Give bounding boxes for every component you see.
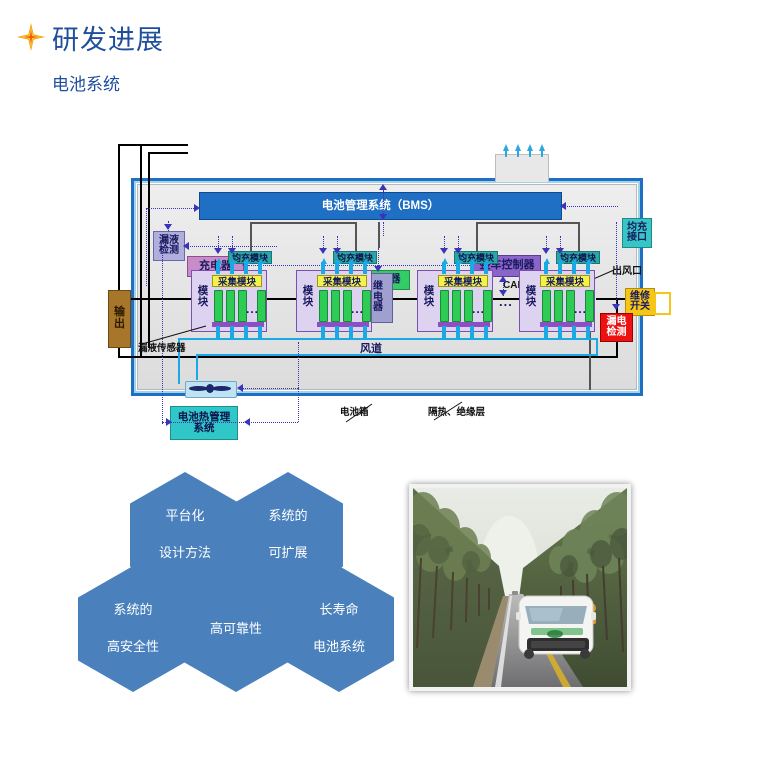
signal-line-thermal bbox=[162, 422, 298, 423]
hv-wire bbox=[118, 356, 618, 358]
coolant-arrow bbox=[484, 258, 490, 264]
signal-arrow bbox=[542, 248, 550, 254]
hex-line2: 高安全性 bbox=[107, 638, 159, 657]
signal-arrow bbox=[454, 248, 462, 254]
hv-wire bbox=[118, 144, 142, 146]
thermal-line2: 系统 bbox=[194, 422, 215, 434]
air-duct-rail bbox=[596, 338, 598, 354]
hv-wire bbox=[148, 152, 188, 154]
battery-cell bbox=[483, 290, 492, 322]
battery-cell bbox=[452, 290, 461, 322]
acquisition-module[interactable]: 采集模块 bbox=[212, 275, 262, 287]
air-duct-rail bbox=[178, 338, 598, 340]
air-outlet-stem bbox=[541, 150, 543, 157]
hv-wire bbox=[118, 144, 120, 292]
hex-line2: 设计方法 bbox=[159, 544, 211, 563]
signal-arrow bbox=[194, 204, 200, 212]
leak-sensor-label: 漏液传感器 bbox=[138, 340, 186, 354]
module-label: 模 块 bbox=[524, 286, 538, 307]
signal-line-display-bms bbox=[383, 222, 384, 236]
signal-arrow bbox=[333, 248, 341, 254]
coolant-arrow bbox=[363, 258, 369, 264]
balance-port-line1: 均充 bbox=[627, 222, 647, 233]
hex-line1: 高可靠性 bbox=[210, 620, 262, 639]
battery-system-diagram: 出风口 电池管理系统（BMS） 充电器 显示器 整车控制器 CAN 漏液 检测 bbox=[0, 118, 769, 448]
page-header: 研发进展 电池系统 bbox=[0, 0, 769, 110]
thermal-management-box[interactable]: 电池热管理 系统 bbox=[170, 406, 238, 440]
leakage-current-detection-box[interactable]: 漏电 检测 bbox=[600, 313, 633, 342]
module-label-line2: 块 bbox=[526, 296, 537, 308]
module-bus-wire bbox=[266, 298, 298, 300]
acquisition-module[interactable]: 采集模块 bbox=[540, 275, 590, 287]
battery-cell bbox=[214, 290, 223, 322]
output-line2: 出 bbox=[114, 318, 125, 330]
service-switch-box[interactable]: 维修 开关 bbox=[625, 288, 655, 316]
air-outlet-stem bbox=[505, 150, 507, 157]
battery-cell bbox=[585, 290, 594, 322]
leak-detect-line1: 漏液 bbox=[159, 235, 179, 246]
signal-line-leak-bms bbox=[146, 208, 200, 209]
air-outlet-notch bbox=[495, 154, 549, 182]
battery-cell bbox=[362, 290, 371, 322]
signal-line-thermal bbox=[298, 342, 299, 388]
coolant-arrow bbox=[258, 258, 264, 264]
hex-line1: 平台化 bbox=[159, 507, 211, 526]
leak-detection-box[interactable]: 漏液 检测 bbox=[153, 231, 185, 261]
module-separator: ... bbox=[499, 294, 513, 309]
signal-arrow bbox=[556, 248, 564, 254]
hv-wire bbox=[140, 144, 188, 146]
hv-wire bbox=[140, 354, 142, 358]
signal-arrow bbox=[166, 418, 172, 426]
coolant-arrow bbox=[321, 258, 327, 264]
coolant-arrow bbox=[572, 258, 578, 264]
service-switch-line2: 开关 bbox=[630, 301, 650, 312]
battery-cell bbox=[257, 290, 266, 322]
coolant-arrow bbox=[470, 258, 476, 264]
signal-arrow bbox=[319, 248, 327, 254]
battery-cell bbox=[331, 290, 340, 322]
page-subtitle-text: 电池系统 bbox=[52, 75, 120, 94]
service-switch-tab bbox=[654, 292, 671, 315]
page-subtitle: 电池系统 bbox=[52, 70, 120, 95]
hex-line1: 系统的 bbox=[268, 507, 307, 526]
signal-arrow bbox=[228, 248, 236, 254]
balance-feed-line bbox=[250, 222, 355, 224]
coolant-arrow bbox=[544, 258, 550, 264]
module-bus-wire bbox=[131, 298, 191, 300]
air-outlet-stem bbox=[529, 150, 531, 157]
output-terminal-box[interactable]: 输 出 bbox=[108, 290, 131, 348]
fan-blade bbox=[212, 386, 231, 391]
coolant-arrow bbox=[558, 258, 564, 264]
leak-current-line1: 漏电 bbox=[607, 316, 627, 327]
signal-arrow bbox=[214, 248, 222, 254]
module-label: 模 块 bbox=[422, 286, 436, 307]
balance-port-line2: 接口 bbox=[627, 232, 647, 243]
balance-feed-line bbox=[476, 222, 478, 251]
signal-arrow bbox=[612, 304, 620, 310]
signal-line-bms-branch bbox=[565, 206, 618, 207]
signal-line-thermal bbox=[298, 388, 299, 422]
insulation-label: 隔热、绝缘层 bbox=[428, 404, 485, 418]
signal-line-leak bbox=[146, 208, 147, 286]
battery-cell bbox=[554, 290, 563, 322]
feature-hexagon-group: 平台化 设计方法 系统的 可扩展 系统的 高安全性 高可靠性 长寿命 电池系统 bbox=[70, 470, 400, 690]
four-point-star-icon bbox=[16, 22, 46, 52]
hex-line1: 系统的 bbox=[107, 601, 159, 620]
module-label: 模 块 bbox=[301, 286, 315, 307]
balance-feed-line bbox=[250, 222, 252, 251]
signal-line-vcu-charger bbox=[248, 265, 470, 266]
photo-image bbox=[413, 488, 627, 687]
signal-arrow bbox=[499, 276, 507, 282]
relay-feed-line bbox=[378, 222, 380, 248]
air-outlet-stem bbox=[517, 150, 519, 157]
battery-cell bbox=[319, 290, 328, 322]
hex-line1: 长寿命 bbox=[313, 601, 365, 620]
module-label-line2: 块 bbox=[424, 296, 435, 308]
coolant-arrow bbox=[335, 258, 341, 264]
signal-line-thermal bbox=[242, 388, 298, 389]
signal-arrow bbox=[440, 248, 448, 254]
battery-cell bbox=[226, 290, 235, 322]
balance-charge-port-box[interactable]: 均充 接口 bbox=[622, 218, 652, 248]
relay-line3: 器 bbox=[373, 302, 383, 313]
signal-arrow bbox=[237, 384, 243, 392]
relay-line1: 继 bbox=[373, 281, 383, 292]
acquisition-module[interactable]: 采集模块 bbox=[317, 275, 367, 287]
output-line1: 输 bbox=[114, 306, 125, 318]
hv-wire bbox=[148, 152, 150, 348]
balance-feed-line bbox=[355, 222, 357, 251]
page-title: 研发进展 bbox=[52, 18, 164, 57]
hex-line2: 电池系统 bbox=[313, 638, 365, 657]
air-duct-rail bbox=[196, 354, 198, 380]
signal-arrow bbox=[183, 242, 189, 250]
coolant-arrow bbox=[442, 258, 448, 264]
vehicle-road-test-photo bbox=[409, 484, 631, 691]
signal-line-bms-leakcurrent bbox=[616, 222, 617, 308]
signal-arrow bbox=[374, 266, 382, 272]
coolant-arrow bbox=[244, 258, 250, 264]
module-bus-wire bbox=[391, 298, 419, 300]
balance-feed-line bbox=[578, 222, 580, 251]
signal-arrow bbox=[379, 214, 387, 220]
battery-cell bbox=[542, 290, 551, 322]
module-label-line2: 块 bbox=[303, 296, 314, 308]
signal-arrow bbox=[164, 224, 172, 230]
fan-hub bbox=[206, 384, 214, 393]
battery-cell bbox=[440, 290, 449, 322]
hex-line2: 可扩展 bbox=[268, 544, 307, 563]
balance-feed-line bbox=[476, 222, 578, 224]
battery-box-label: 电池箱 bbox=[340, 404, 369, 418]
coolant-arrow bbox=[349, 258, 355, 264]
air-duct-rail bbox=[196, 354, 598, 356]
service-switch-line1: 维修 bbox=[630, 291, 650, 302]
coolant-arrow bbox=[586, 258, 592, 264]
module-label: 模 块 bbox=[196, 286, 210, 307]
coolant-arrow bbox=[230, 258, 236, 264]
signal-arrow bbox=[560, 202, 566, 210]
coolant-arrow bbox=[456, 258, 462, 264]
module-label-line2: 块 bbox=[198, 296, 209, 308]
acquisition-module[interactable]: 采集模块 bbox=[438, 275, 488, 287]
coolant-arrow bbox=[216, 258, 222, 264]
air-duct-label: 风道 bbox=[360, 340, 382, 356]
leak-current-line2: 检测 bbox=[607, 327, 627, 338]
